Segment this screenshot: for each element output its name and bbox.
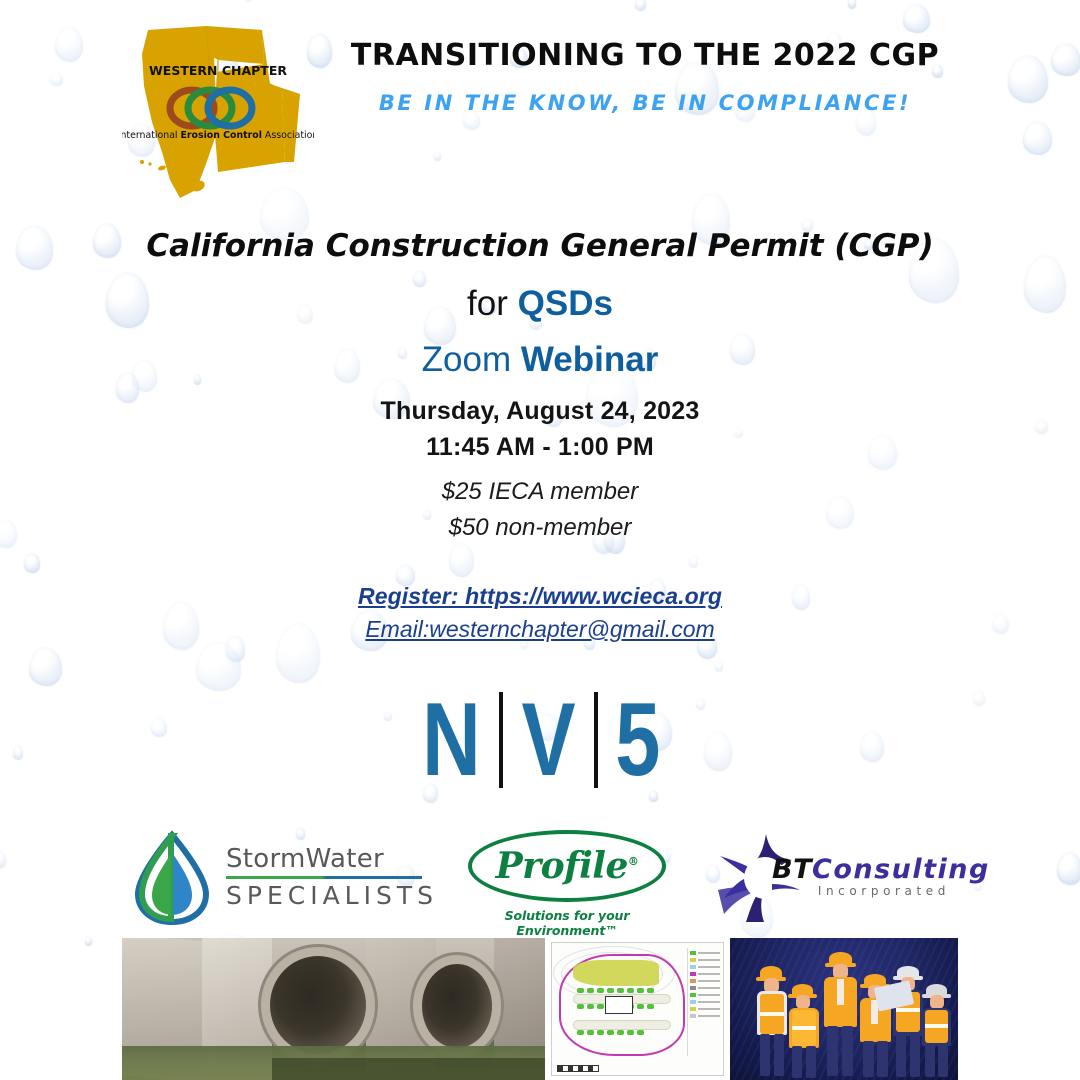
registered-mark: ® — [628, 855, 639, 868]
water-bubble — [689, 556, 699, 568]
stormwater-text-block: StormWater SPECIALISTS — [226, 844, 426, 910]
register-block: Register: https://www.wcieca.org Email:w… — [0, 583, 1080, 643]
flyer-canvas: WESTERN CHAPTER International Erosion Co… — [0, 0, 1080, 1080]
audience-line: for QSDs — [0, 284, 1080, 324]
nv5-letter-n: N — [422, 688, 480, 792]
platform-value: Webinar — [521, 340, 658, 379]
event-time: 11:45 AM - 1:00 PM — [0, 433, 1080, 462]
stormwater-line1: StormWater — [226, 844, 426, 874]
nv5-logo: N V 5 — [0, 685, 1080, 795]
sponsor-bt-consulting: BTConsulting Incorporated — [716, 832, 956, 928]
bt-initials: BT — [772, 854, 812, 885]
register-link[interactable]: Register: https://www.wcieca.org — [358, 583, 722, 610]
stormwater-rule — [226, 876, 422, 879]
audience-value: QSDs — [518, 284, 613, 323]
wcieca-logo: WESTERN CHAPTER International Erosion Co… — [122, 12, 314, 204]
photo-workers — [730, 938, 958, 1080]
bt-incorporated: Incorporated — [772, 884, 950, 898]
logo-association-text: International Erosion Control Associatio… — [122, 130, 314, 141]
photo-siteplan — [545, 938, 730, 1080]
nv5-letter-v: V — [522, 688, 575, 792]
email-link[interactable]: Email:westernchapter@gmail.com — [0, 616, 1080, 643]
bt-text-block: BTConsulting Incorporated — [772, 856, 962, 898]
sponsor-stormwater-specialists: StormWater SPECIALISTS — [126, 826, 426, 930]
nv5-divider-bar — [594, 692, 598, 788]
water-bubble — [85, 937, 92, 946]
water-bubble — [449, 543, 474, 577]
platform-line: Zoom Webinar — [0, 340, 1080, 380]
sponsor-profile: Profile® Solutions for your Environment™ — [468, 828, 673, 932]
water-bubble — [196, 643, 241, 691]
logo-chapter-text: WESTERN CHAPTER — [149, 63, 287, 78]
water-bubble — [24, 554, 40, 573]
price-nonmember: $50 non-member — [0, 514, 1080, 542]
water-drop-leaf-icon — [126, 830, 218, 926]
profile-wordmark: Profile® — [496, 845, 639, 887]
water-bubble — [715, 662, 723, 672]
event-name: California Construction General Permit (… — [0, 228, 1080, 264]
stormwater-line2: SPECIALISTS — [226, 881, 426, 910]
nv5-letter-5: 5 — [615, 688, 659, 792]
header: WESTERN CHAPTER International Erosion Co… — [0, 0, 1080, 210]
photo-culvert — [122, 938, 545, 1080]
audience-prefix: for — [467, 284, 518, 323]
sponsor-row: StormWater SPECIALISTS Profile® Solution… — [0, 826, 1080, 934]
price-member: $25 IECA member — [0, 478, 1080, 506]
green-oval-icon: Profile® — [468, 830, 666, 902]
page-subtitle: BE IN THE KNOW, BE IN COMPLIANCE! — [330, 91, 960, 115]
headline-block: TRANSITIONING TO THE 2022 CGP BE IN THE … — [330, 38, 960, 115]
nv5-divider-bar — [499, 692, 503, 788]
water-bubble — [29, 648, 62, 686]
event-details: California Construction General Permit (… — [0, 228, 1080, 542]
photo-strip — [122, 938, 958, 1080]
siteplan-legend — [687, 948, 722, 1056]
profile-tagline: Solutions for your Environment™ — [468, 908, 666, 938]
event-date: Thursday, August 24, 2023 — [0, 397, 1080, 426]
bt-consulting-word: Consulting — [812, 854, 990, 885]
bt-wordmark: BTConsulting — [772, 856, 962, 883]
page-title: TRANSITIONING TO THE 2022 CGP — [330, 38, 960, 73]
platform-prefix: Zoom — [422, 340, 521, 379]
